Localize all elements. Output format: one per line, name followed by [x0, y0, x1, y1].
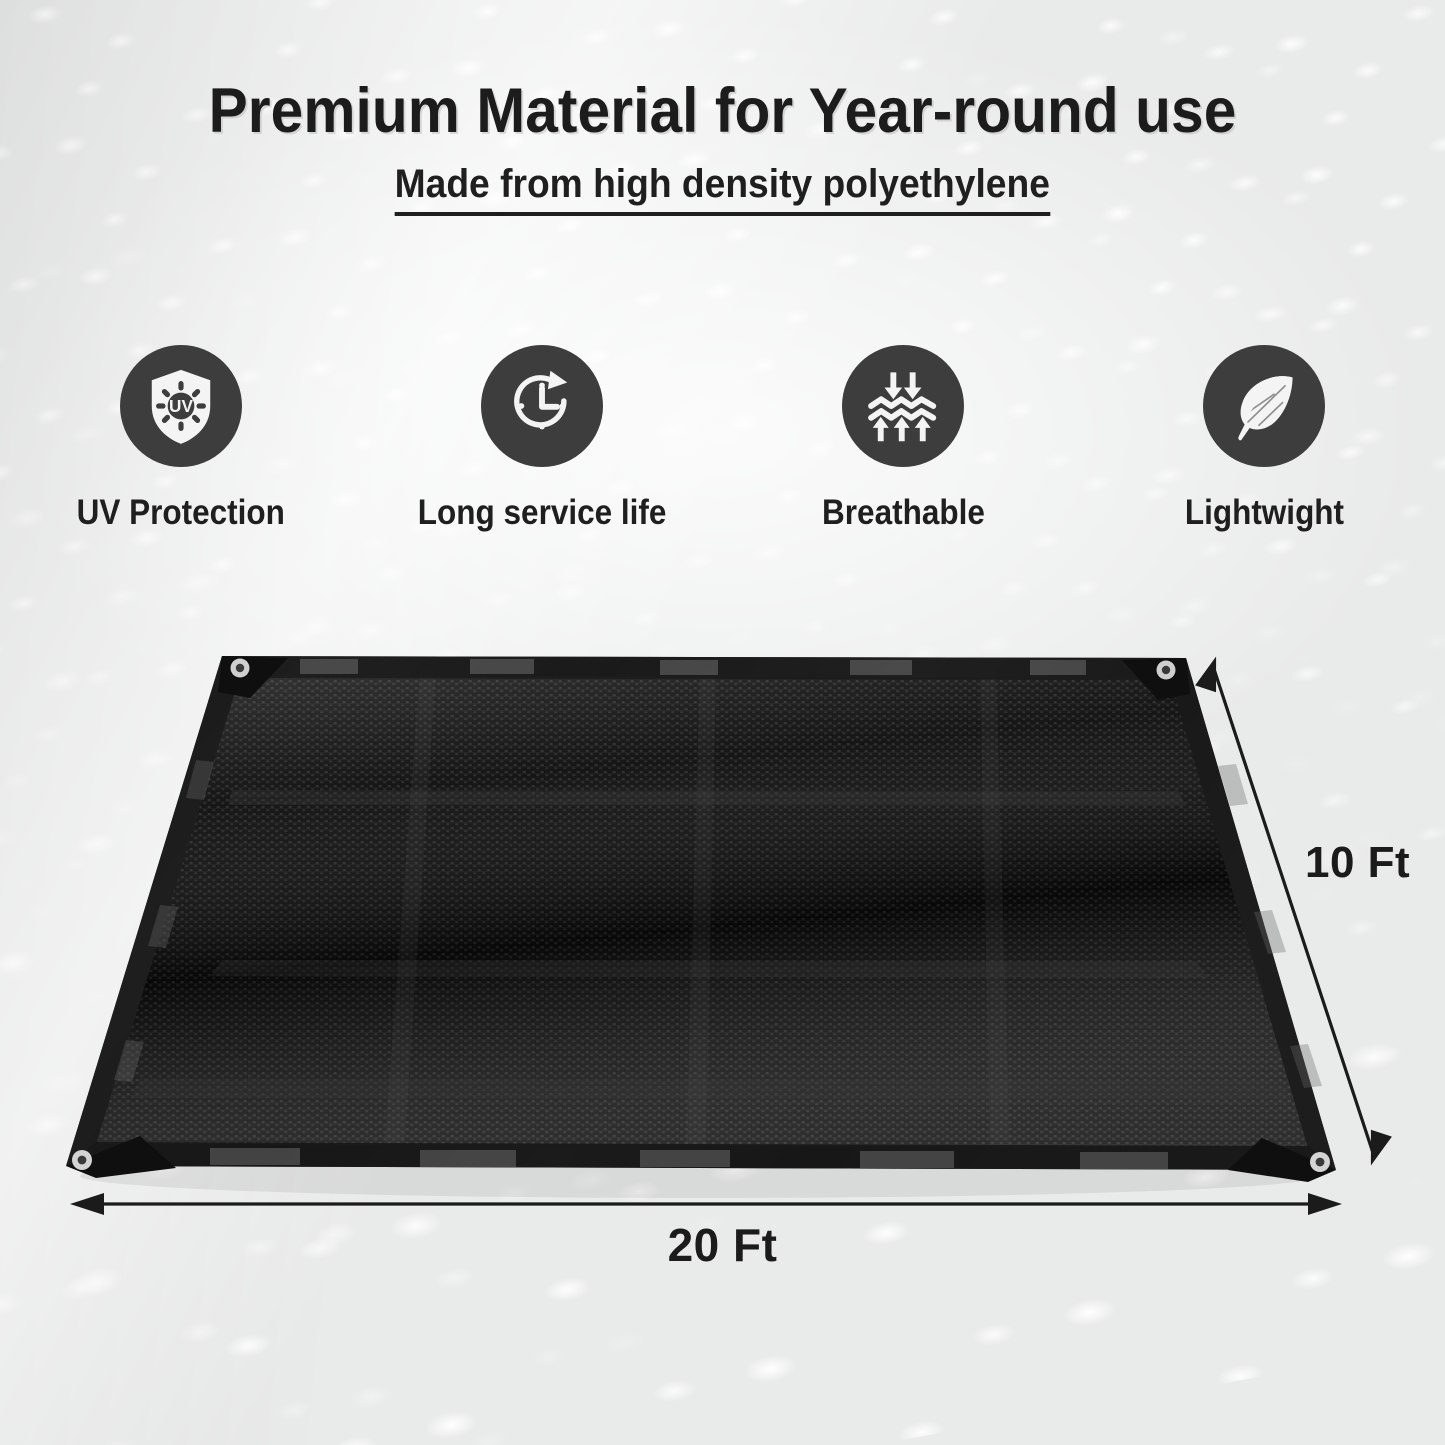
product-feature-graphic: Premium Material for Year-round use Made…: [0, 0, 1445, 1445]
product-illustration: 10 Ft 20 Ft: [0, 0, 1445, 1445]
dimension-label-height: 10 Ft: [1305, 838, 1410, 888]
dimension-label-width: 20 Ft: [0, 1218, 1445, 1272]
